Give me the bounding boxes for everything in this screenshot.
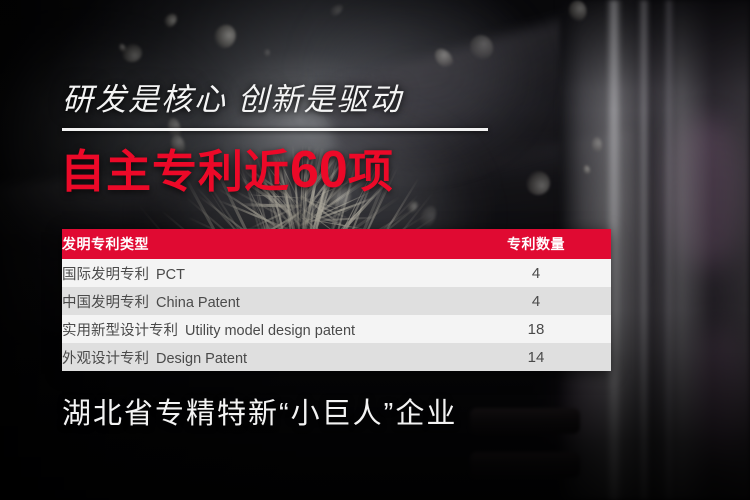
- subheadline-prefix: 自主专利近: [60, 146, 290, 197]
- table-row: 外观设计专利Design Patent14: [62, 343, 611, 371]
- headline-text: 研发是核心 创新是驱动: [62, 84, 403, 115]
- cell-patent-type: 实用新型设计专利Utility model design patent: [62, 315, 461, 343]
- patent-table: 发明专利类型 专利数量 国际发明专利PCT4中国发明专利China Patent…: [62, 229, 611, 371]
- patent-type-cn: 外观设计专利: [62, 351, 149, 367]
- cell-patent-count: 18: [461, 315, 611, 343]
- column-header-patent-type: 发明专利类型: [62, 229, 461, 259]
- subheadline: 自主专利近60项: [60, 143, 394, 198]
- patent-type-en: Design Patent: [156, 351, 247, 367]
- table-row: 国际发明专利PCT4: [62, 259, 611, 287]
- cell-patent-count: 4: [461, 287, 611, 315]
- patent-type-cn: 实用新型设计专利: [62, 323, 178, 339]
- patent-type-cn: 中国发明专利: [62, 295, 149, 311]
- table-row: 实用新型设计专利Utility model design patent18: [62, 315, 611, 343]
- headline-divider: [62, 128, 488, 131]
- patent-table-header: 发明专利类型 专利数量: [62, 229, 611, 259]
- patent-type-cn: 国际发明专利: [62, 267, 149, 283]
- patent-type-en: PCT: [156, 267, 185, 283]
- patent-achievement-banner: 研发是核心 创新是驱动 自主专利近60项 发明专利类型 专利数量 国际发明专利P…: [0, 0, 750, 500]
- cell-patent-count: 14: [461, 343, 611, 371]
- banner-content: 研发是核心 创新是驱动 自主专利近60项 发明专利类型 专利数量 国际发明专利P…: [0, 0, 750, 500]
- cell-patent-type: 国际发明专利PCT: [62, 259, 461, 287]
- column-header-patent-count: 专利数量: [461, 229, 611, 259]
- cell-patent-count: 4: [461, 259, 611, 287]
- table-header-row: 发明专利类型 专利数量: [62, 229, 611, 259]
- subheadline-suffix: 项: [348, 146, 394, 197]
- patent-table-body: 国际发明专利PCT4中国发明专利China Patent4实用新型设计专利Uti…: [62, 259, 611, 371]
- cell-patent-type: 中国发明专利China Patent: [62, 287, 461, 315]
- patent-type-en: Utility model design patent: [185, 323, 355, 339]
- cell-patent-type: 外观设计专利Design Patent: [62, 343, 461, 371]
- table-row: 中国发明专利China Patent4: [62, 287, 611, 315]
- patent-type-en: China Patent: [156, 295, 240, 311]
- subheadline-number: 60: [290, 141, 348, 199]
- footer-caption: 湖北省专精特新“小巨人”企业: [62, 400, 457, 429]
